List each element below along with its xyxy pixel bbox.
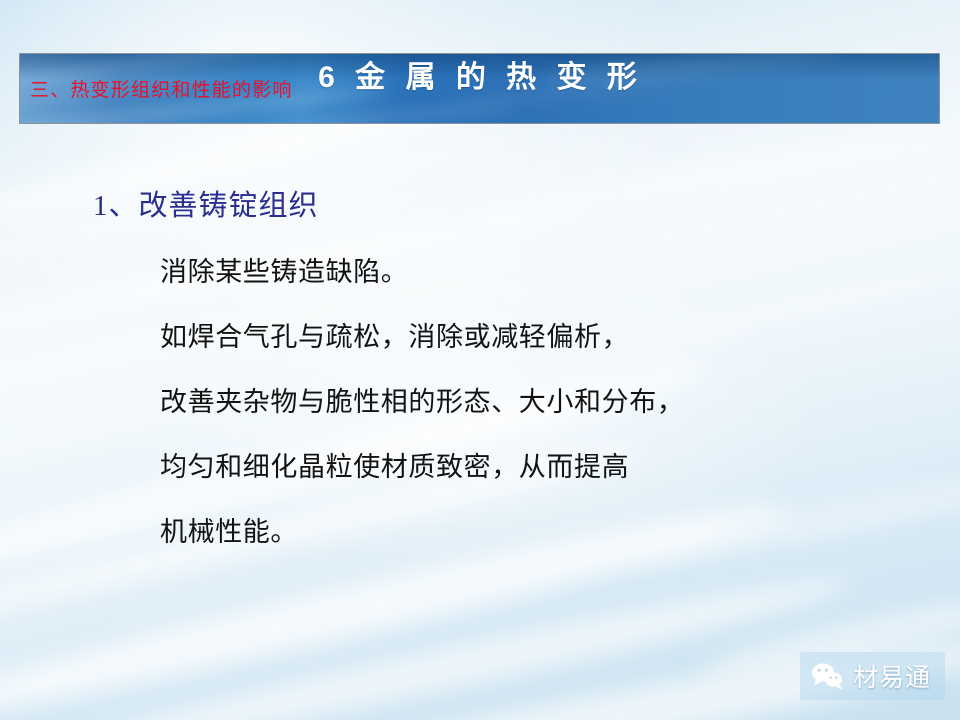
body-text-line: 消除某些铸造缺陷。	[160, 250, 408, 289]
body-text-line: 均匀和细化晶粒使材质致密，从而提高	[160, 445, 629, 484]
presentation-slide: 三、热变形组织和性能的影响 6 金 属 的 热 变 形 1、改善铸锭组织 消除某…	[0, 0, 960, 720]
body-text-line: 如焊合气孔与疏松，消除或减轻偏析，	[160, 315, 629, 354]
body-text-line: 机械性能。	[160, 510, 298, 549]
banner-title: 6 金 属 的 热 变 形	[20, 53, 940, 96]
section-heading: 1、改善铸锭组织	[93, 182, 319, 224]
wechat-icon	[810, 661, 844, 691]
watermark-label: 材易通	[853, 658, 931, 694]
slide-content: 1、改善铸锭组织 消除某些铸造缺陷。 如焊合气孔与疏松，消除或减轻偏析， 改善夹…	[0, 0, 960, 720]
watermark: 材易通	[800, 652, 945, 700]
body-text-line: 改善夹杂物与脆性相的形态、大小和分布，	[160, 380, 684, 419]
